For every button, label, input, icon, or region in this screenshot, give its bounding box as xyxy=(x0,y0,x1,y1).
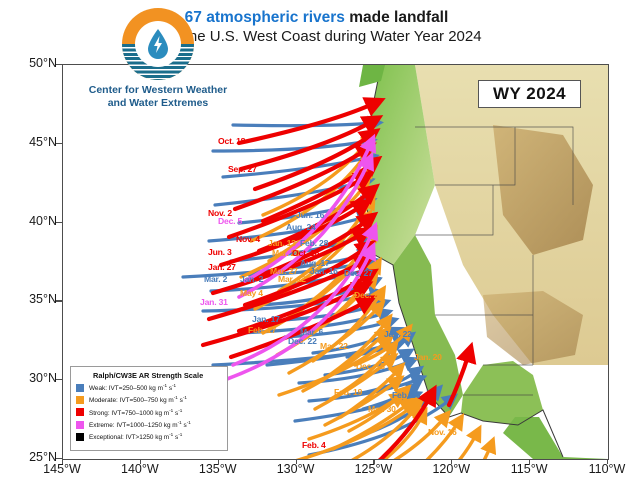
y-tick-label: 30°N xyxy=(2,371,57,385)
legend-swatch xyxy=(76,421,84,429)
legend-item-moderate: Moderate: IVT=500–750 kg m-1 s-1 xyxy=(76,395,222,404)
ar-date-label: Jun. 16 xyxy=(296,210,324,220)
ar-date-label: Feb. 28 xyxy=(300,238,328,248)
ar-date-label: Nov. 16 xyxy=(428,427,457,437)
x-tick-label: 125°W xyxy=(343,462,403,476)
legend-label: Exceptional: IVT>1250 kg m-1 s-1 xyxy=(89,432,182,441)
ar-date-label: Nov. 4 xyxy=(236,234,260,244)
water-droplet-lightning-icon xyxy=(146,28,170,60)
ar-date-label: Feb. 26 xyxy=(392,390,420,400)
ar-date-label: Jan. 13 xyxy=(268,238,296,248)
ar-date-label: Oct. 18 xyxy=(218,136,245,146)
ar-date-label: Dec. 29 xyxy=(354,290,383,300)
legend-swatch xyxy=(76,384,84,392)
y-tick-label: 35°N xyxy=(2,292,57,306)
title-rest: made landfall xyxy=(345,9,448,26)
y-tick-label: 45°N xyxy=(2,135,57,149)
legend-label: Moderate: IVT=500–750 kg m-1 s-1 xyxy=(89,395,187,404)
legend-swatch xyxy=(76,433,84,441)
ar-date-label: Mar. 22 xyxy=(320,341,348,351)
logo-text-line2: and Water Extremes xyxy=(68,97,248,110)
logo-text-line1: Center for Western Weather xyxy=(68,84,248,97)
y-tick-label: 50°N xyxy=(2,56,57,70)
legend-swatch xyxy=(76,408,84,416)
ar-date-label: Jan. 22 xyxy=(384,329,412,339)
ar-date-label: Feb. 19 xyxy=(334,387,362,397)
ar-date-label: Jan. 17 xyxy=(252,314,280,324)
legend-title: Ralph/CW3E AR Strength Scale xyxy=(93,371,222,380)
x-tick-label: 135°W xyxy=(188,462,248,476)
ar-date-label: Dec. 18 xyxy=(356,361,385,371)
legend-rows: Weak: IVT=250–500 kg m-1 s-1Moderate: IV… xyxy=(76,383,222,441)
x-tick-label: 120°W xyxy=(421,462,481,476)
ar-date-label: Dec. 5 xyxy=(218,216,242,226)
ar-date-label: Dec. 27 xyxy=(344,268,373,278)
water-year-badge: WY 2024 xyxy=(478,80,581,108)
ar-date-label: Jan. 31 xyxy=(200,297,228,307)
ar-strength-legend: Ralph/CW3E AR Strength Scale Weak: IVT=2… xyxy=(70,366,228,451)
legend-swatch xyxy=(76,396,84,404)
x-tick-label: 130°W xyxy=(266,462,326,476)
cw3e-logo-mark xyxy=(122,8,194,80)
legend-label: Strong: IVT=750–1000 kg m-1 s-1 xyxy=(89,408,182,417)
ar-date-label: Jan. 20 xyxy=(414,352,442,362)
legend-label: Extreme: IVT=1000–1250 kg m-1 s-1 xyxy=(89,420,191,429)
x-tick-label: 115°W xyxy=(499,462,559,476)
x-tick-label: 140°W xyxy=(110,462,170,476)
legend-item-strong: Strong: IVT=750–1000 kg m-1 s-1 xyxy=(76,408,222,417)
legend-item-exceptional: Exceptional: IVT>1250 kg m-1 s-1 xyxy=(76,432,222,441)
cw3e-logo-text: Center for Western Weather and Water Ext… xyxy=(68,84,248,110)
legend-item-extreme: Extreme: IVT=1000–1250 kg m-1 s-1 xyxy=(76,420,222,429)
ar-date-label: Feb. 17 xyxy=(248,325,276,335)
legend-label: Weak: IVT=250–500 kg m-1 s-1 xyxy=(89,383,176,392)
ar-date-label: Sep. 27 xyxy=(228,164,257,174)
ar-date-label: May 4 xyxy=(240,288,263,298)
ar-date-label: Mar. 12 xyxy=(278,274,306,284)
ar-date-label: Jan. 2 xyxy=(240,274,263,284)
ar-date-label: Feb. 4 xyxy=(302,440,326,450)
legend-item-weak: Weak: IVT=250–500 kg m-1 s-1 xyxy=(76,383,222,392)
x-tick-label: 110°W xyxy=(577,462,633,476)
y-tick-label: 40°N xyxy=(2,214,57,228)
x-tick-label: 145°W xyxy=(32,462,92,476)
ar-date-label: Mar. 2 xyxy=(204,274,227,284)
ar-date-label: Aug. 24 xyxy=(286,222,316,232)
ar-date-label: Jun. 3 xyxy=(208,247,232,257)
ar-date-label: Jan. 16 xyxy=(310,266,338,276)
ar-date-label: Mar. 30 xyxy=(368,404,396,414)
cw3e-logo: Center for Western Weather and Water Ext… xyxy=(68,8,248,110)
ar-date-label: Jan. 27 xyxy=(208,262,236,272)
ar-date-label: Dec. 22 xyxy=(288,336,317,346)
ar-date-label: Oct. 16 xyxy=(292,248,319,258)
